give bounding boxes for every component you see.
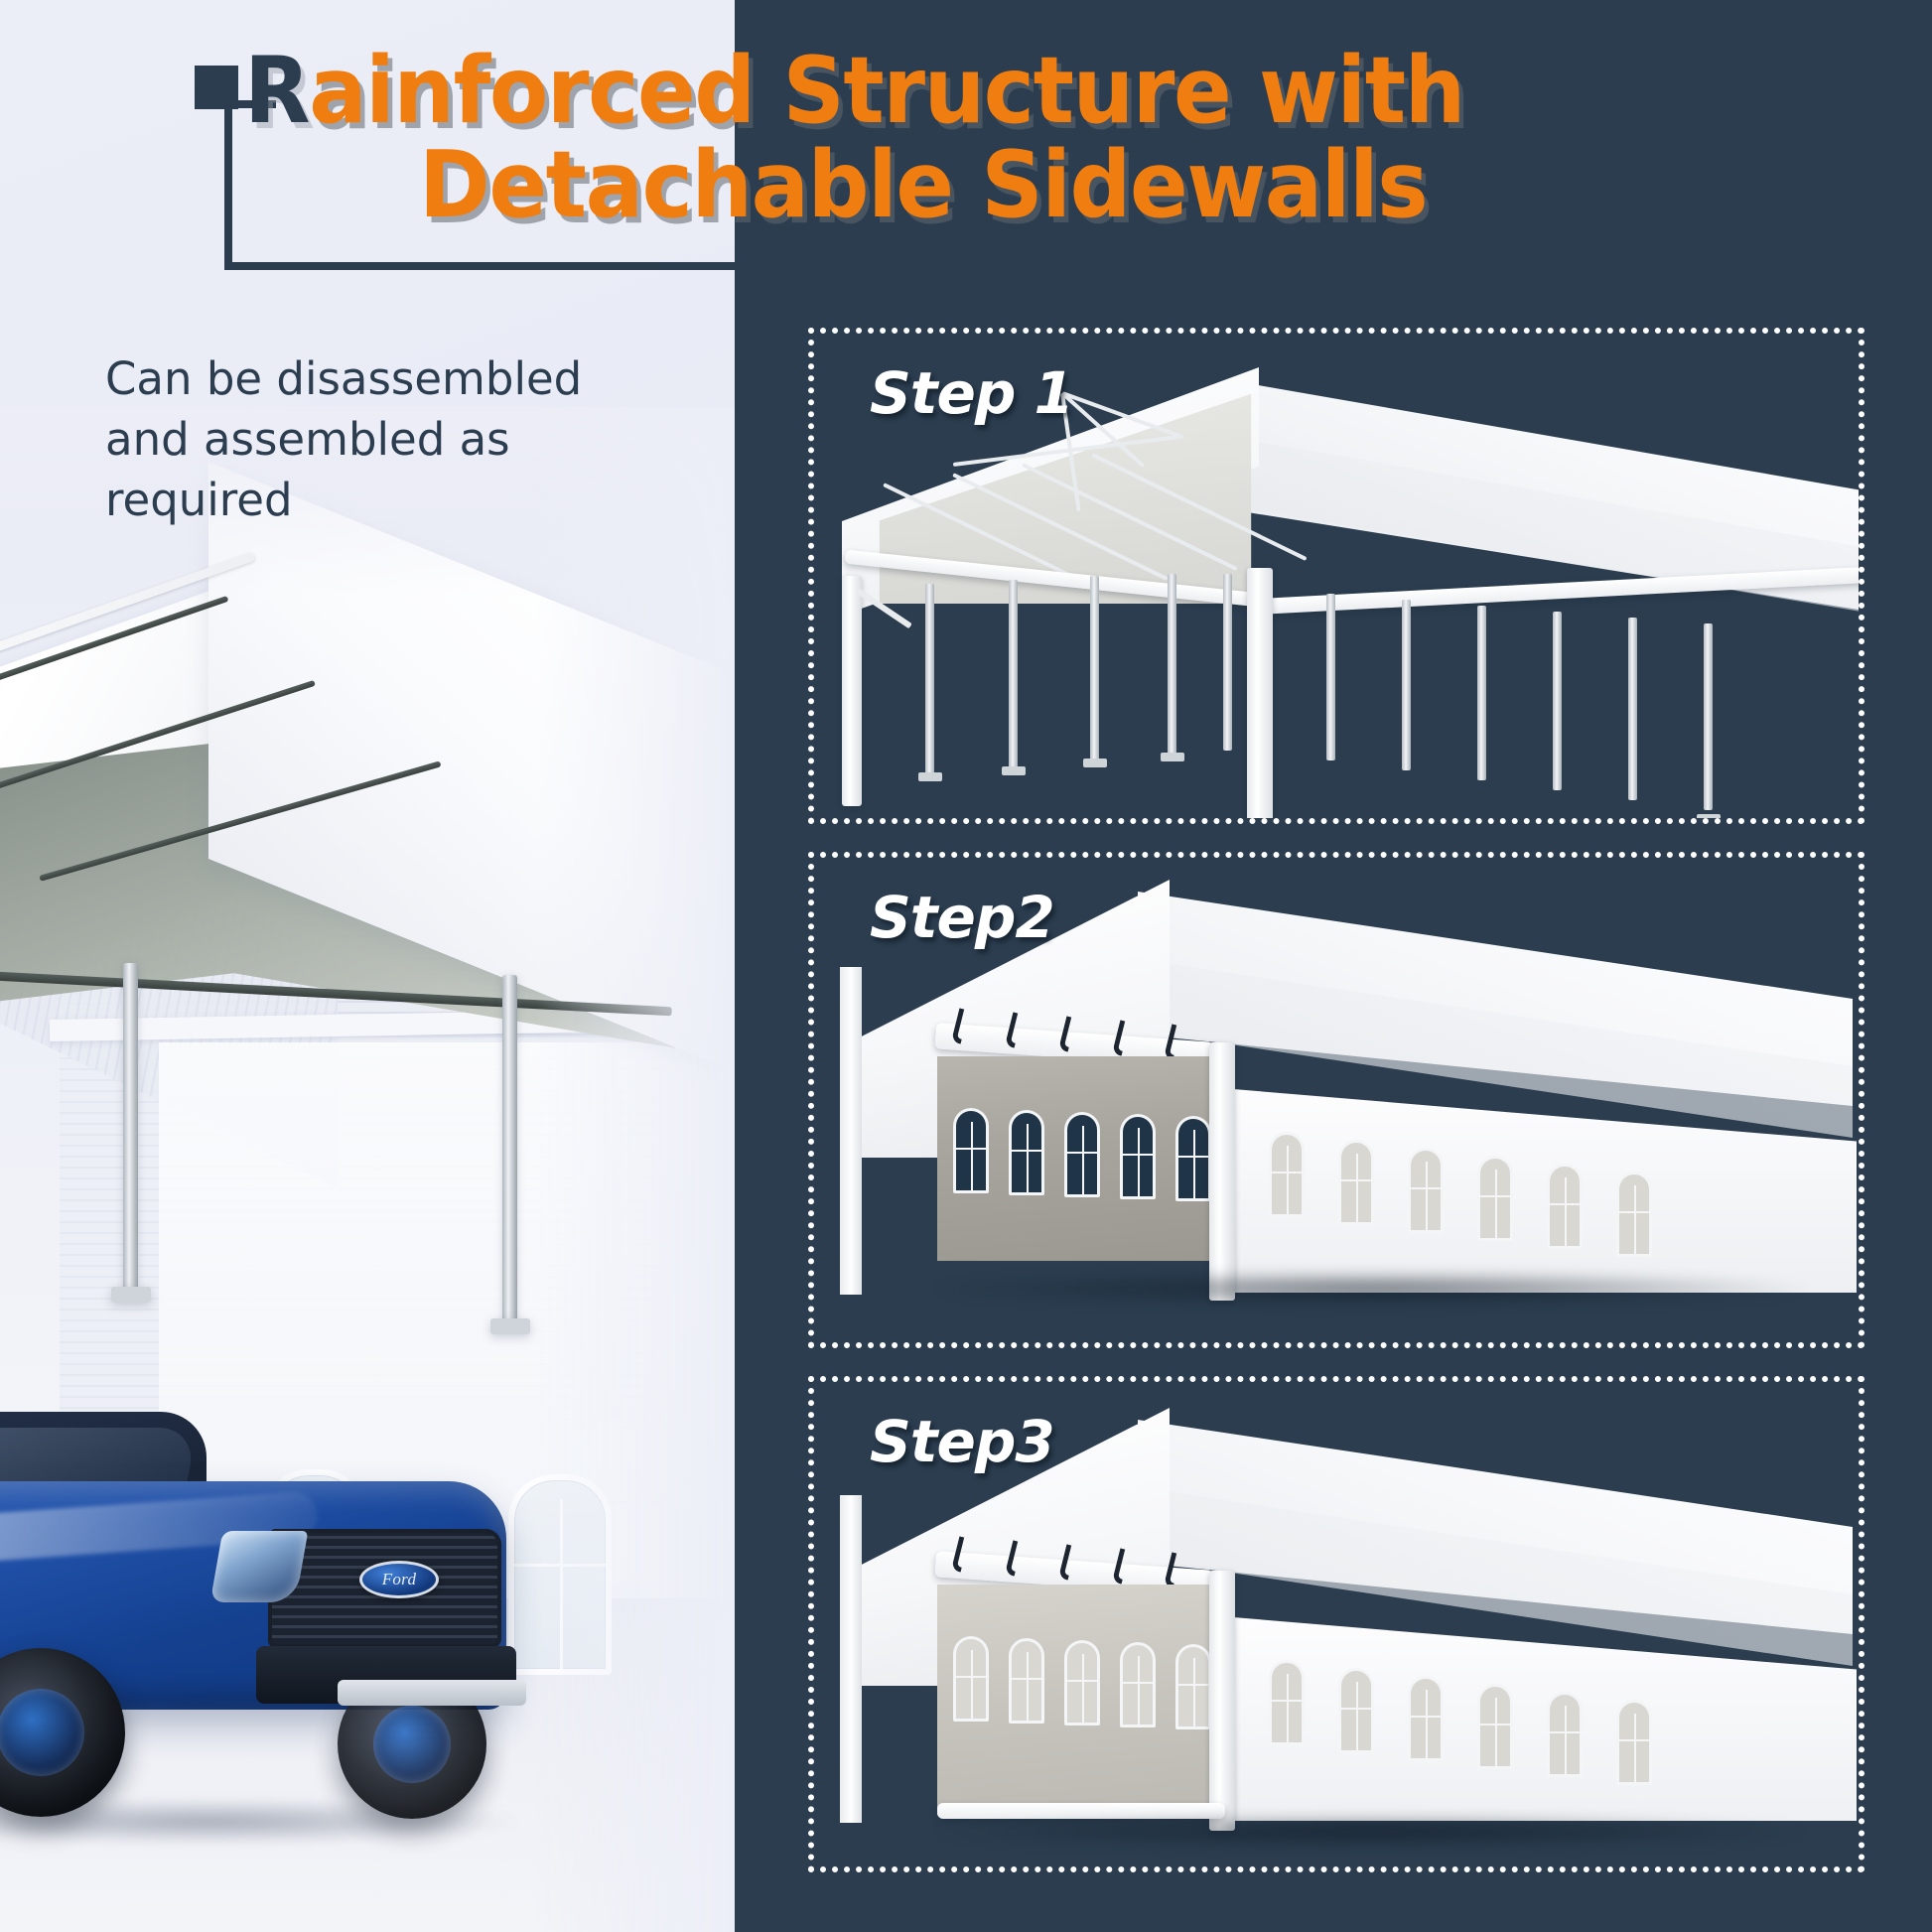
tent-post-foot	[1083, 759, 1107, 767]
tent-post	[1553, 612, 1562, 790]
tent-corner-leg	[1209, 1042, 1235, 1301]
tent-corner-leg	[1209, 1571, 1235, 1831]
tent-post	[1704, 623, 1713, 810]
tent-front-corner-post	[840, 967, 862, 1295]
canopy-post	[123, 963, 138, 1291]
tent-ground-shadow	[933, 1815, 1807, 1849]
headline: Rainforced Structure with Detachable Sid…	[244, 44, 1594, 232]
tent-sidewall-window	[1120, 1114, 1156, 1199]
tent-post	[1223, 574, 1232, 751]
truck-skid-plate	[338, 1680, 526, 1706]
canopy-post-foot	[490, 1318, 530, 1334]
tent-sidewall-window	[1408, 1676, 1444, 1761]
step-1-label: Step 1	[870, 359, 1073, 427]
tent-post	[1168, 574, 1176, 755]
tent-post	[1477, 606, 1486, 780]
bracket-horizontal-line	[224, 262, 1316, 270]
step-card-2: Step2	[808, 852, 1864, 1348]
tent-post	[925, 584, 934, 774]
tent-sidewall-window	[1064, 1640, 1100, 1725]
tent-post-foot	[1161, 753, 1184, 761]
subtitle-text: Can be disassembled and assembled as req…	[105, 349, 661, 530]
tent-sidewall-window	[1338, 1140, 1374, 1225]
tent-sidewall-window	[1009, 1638, 1044, 1724]
tent-sidewall-window	[1120, 1642, 1156, 1727]
tent-sidewall-window	[1408, 1148, 1444, 1233]
tent-sidewall-window	[1477, 1684, 1513, 1769]
tent-sidewall-window	[1064, 1112, 1100, 1197]
tent-sidewall-window	[953, 1108, 989, 1193]
step-card-1: Step 1	[808, 328, 1864, 824]
tent-ground-shadow	[933, 1271, 1807, 1307]
carport-canopy	[0, 526, 735, 1162]
headline-line-1-text: ainforced Structure with	[309, 37, 1464, 144]
headline-line-2: Detachable Sidewalls	[419, 138, 1512, 232]
headline-line-1: Rainforced Structure with	[244, 44, 1500, 138]
blue-pickup-truck	[0, 1410, 566, 1866]
tent-sidewall-window	[1269, 1132, 1305, 1217]
tent-sidewall-window	[1547, 1164, 1583, 1249]
tent-corner-leg	[1247, 568, 1273, 818]
tent-post-foot	[918, 772, 942, 781]
tent-post	[1326, 594, 1335, 760]
tent-sidewall-window	[1269, 1660, 1305, 1745]
product-feature-poster: Rainforced Structure with Detachable Sid…	[0, 0, 1932, 1932]
tent-sidewall-window	[953, 1636, 989, 1722]
canopy-post	[502, 975, 517, 1322]
tent-sidewall-window	[1009, 1110, 1044, 1195]
tent-post	[1009, 580, 1018, 768]
tent-sidewall-window	[1616, 1172, 1652, 1257]
ford-logo-badge	[359, 1561, 439, 1598]
tent-sidewall-window	[1616, 1700, 1652, 1785]
headline-dropcap: R	[244, 37, 309, 144]
tent-front-corner-post	[840, 1495, 862, 1823]
step-card-3: Step3	[808, 1376, 1864, 1872]
step-2-label: Step2	[870, 884, 1054, 951]
tent-sidewall-window	[1338, 1668, 1374, 1753]
tent-sidewall-window	[1477, 1156, 1513, 1241]
tent-post	[1090, 576, 1099, 760]
carport-photo	[0, 407, 735, 1932]
tent-corner-leg	[842, 576, 862, 806]
tent-post-foot	[1002, 766, 1026, 775]
tent-post	[1402, 600, 1411, 770]
step-3-label: Step3	[870, 1408, 1054, 1475]
tent-post	[1628, 618, 1637, 800]
tent-sidewall-window	[1175, 1116, 1211, 1201]
tent-sidewall-window	[1175, 1644, 1211, 1729]
bracket-vertical-line	[224, 99, 232, 270]
canopy-post-foot	[111, 1287, 151, 1303]
tent-sidewall-window	[1547, 1692, 1583, 1777]
tent-post-foot	[1697, 814, 1721, 818]
